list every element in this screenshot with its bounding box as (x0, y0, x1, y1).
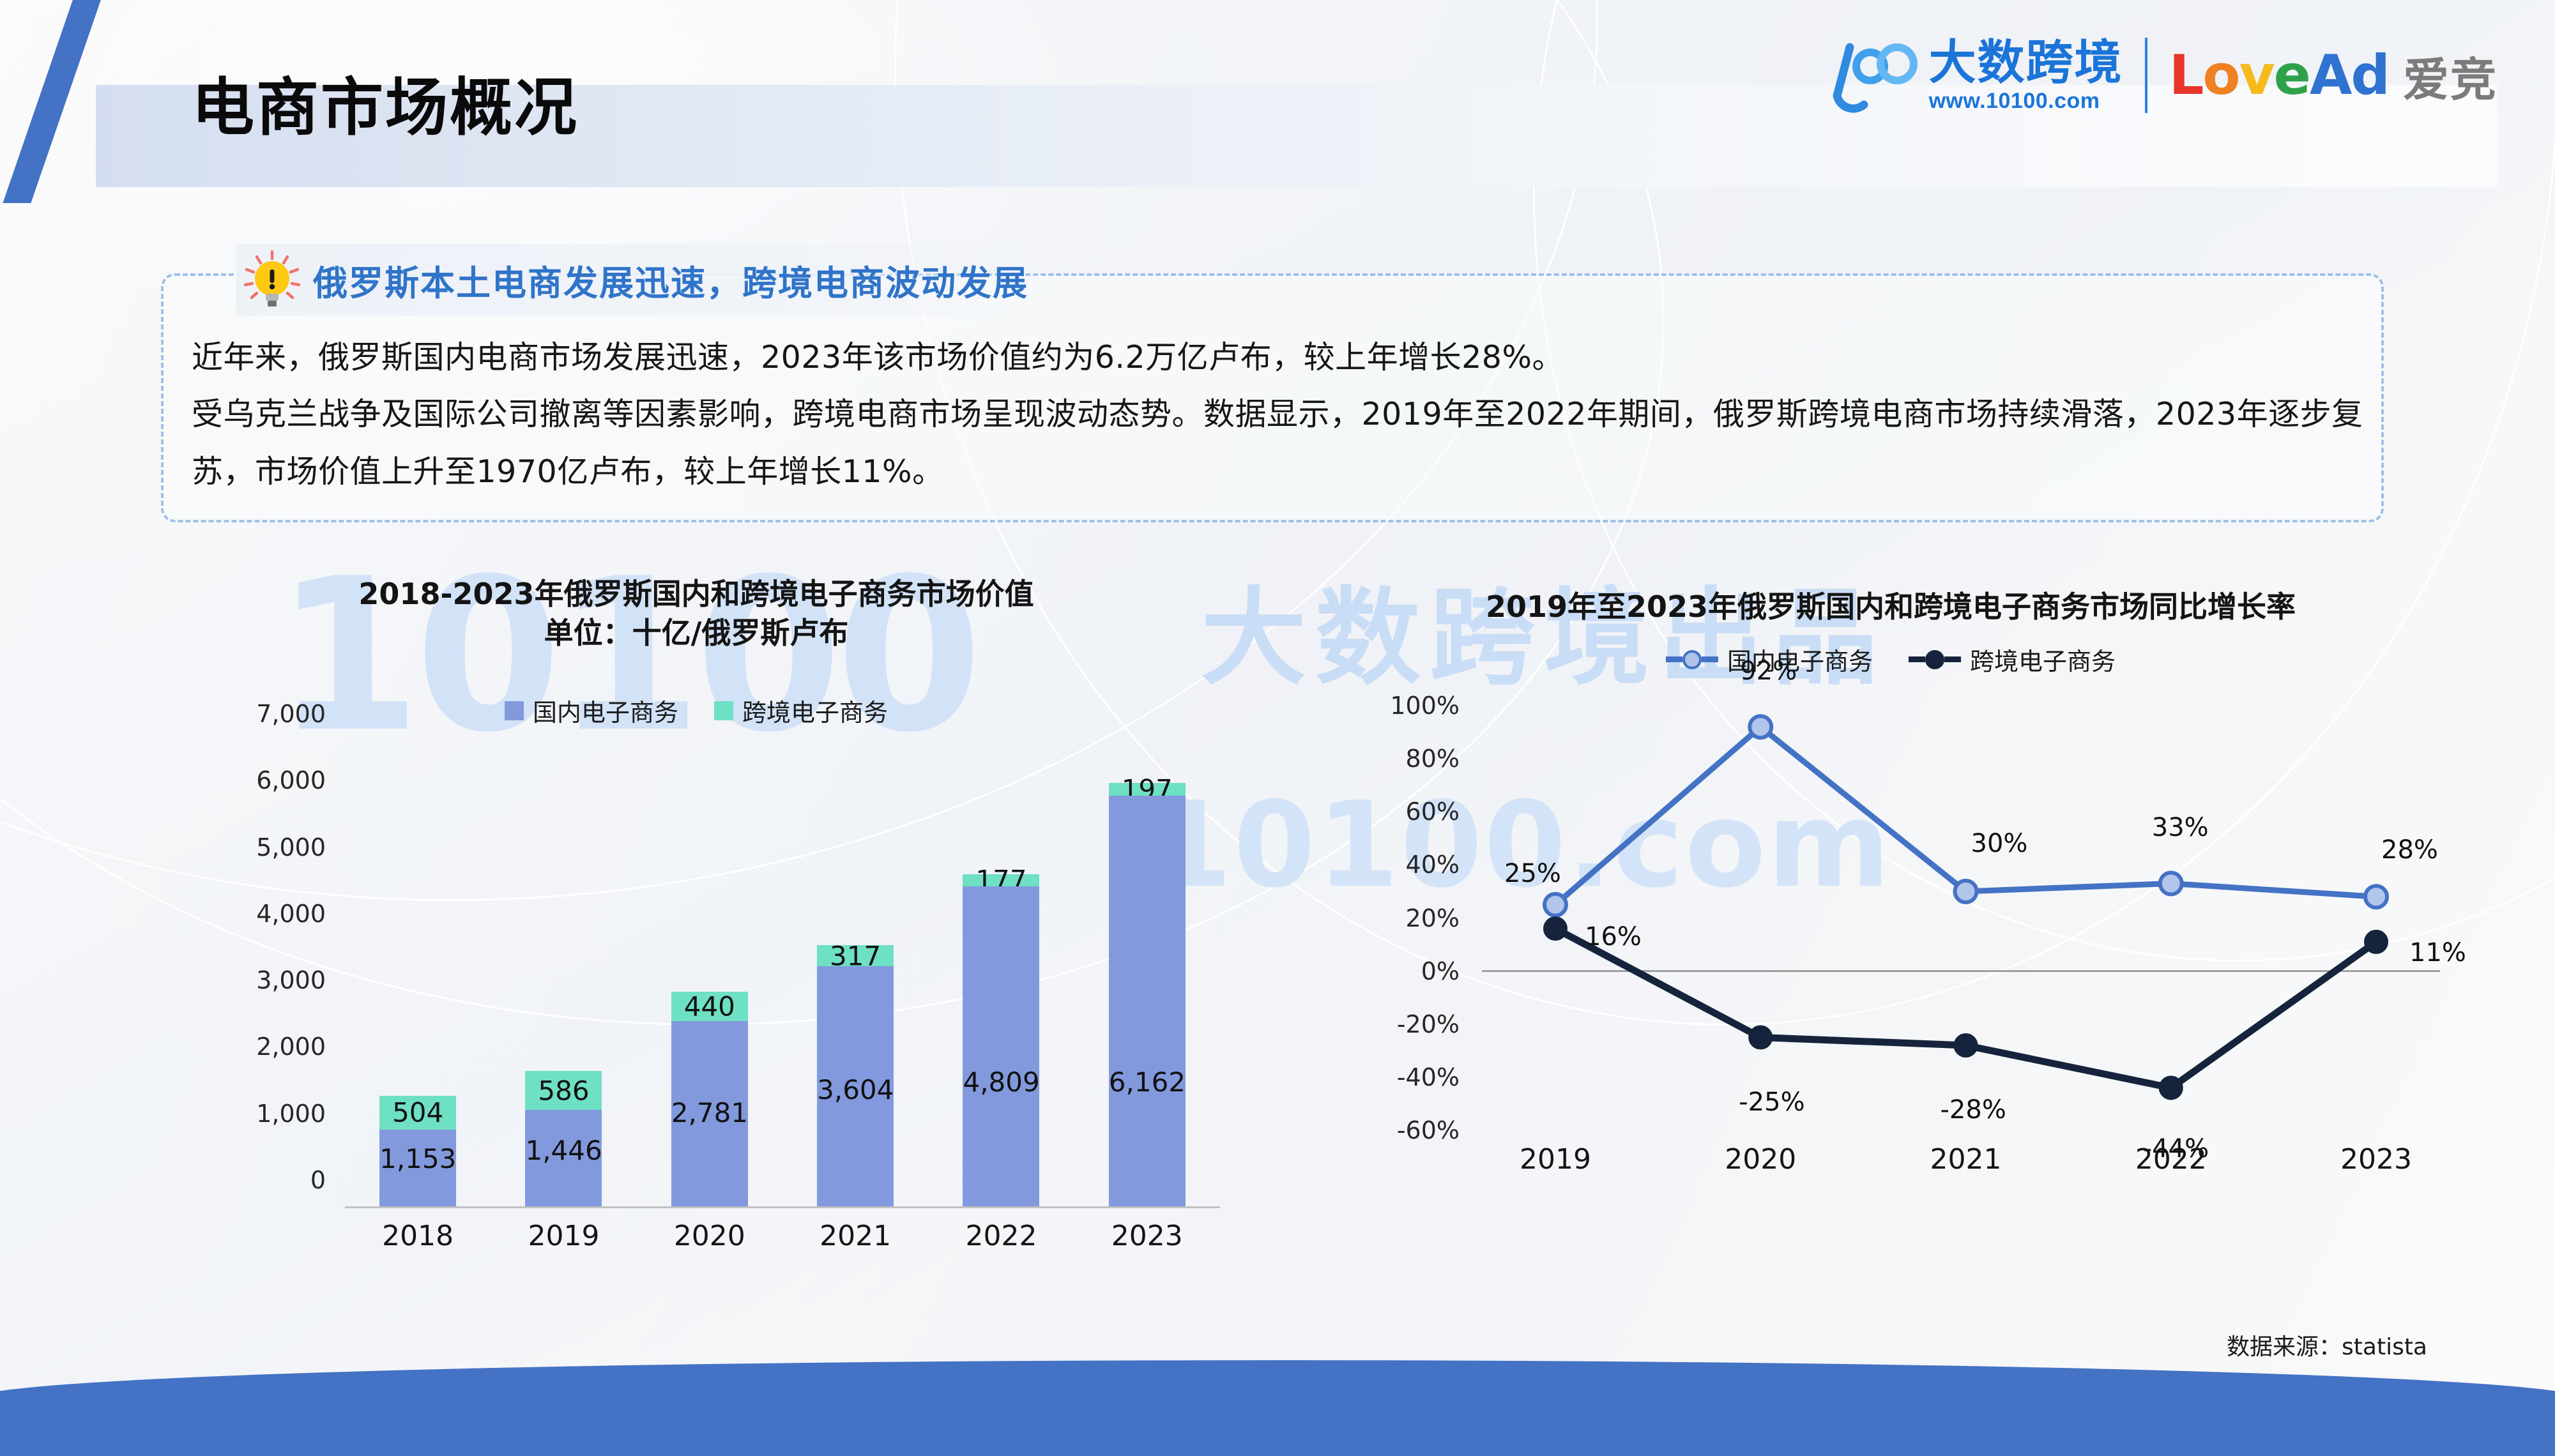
line-point-label: 28% (2381, 835, 2438, 865)
bar-column: 1774,809 (963, 740, 1039, 1206)
bar-y-axis: 01,0002,0003,0004,0005,0006,0007,000 (134, 742, 326, 1208)
source-note: 数据来源：statista (2227, 1328, 2427, 1361)
bar-segment-crossborder: 440 (671, 992, 748, 1021)
bar-value-label: 2,781 (671, 1097, 748, 1128)
line-chart-title: 2019年至2023年俄罗斯国内和跨境电子商务市场同比增长率 (1290, 588, 2491, 626)
legend-item-crossborder: 跨境电子商务 (1909, 642, 2116, 677)
bar-segment-domestic: 3,604 (817, 966, 894, 1206)
callout-paragraph: 近年来，俄罗斯国内电商市场发展迅速，2023年该市场价值约为6.2万亿卢布，较上… (192, 332, 2363, 383)
y-tick-label: 0% (1421, 957, 1460, 985)
legend-label: 国内电子商务 (533, 693, 678, 728)
bar-column: 1976,162 (1109, 740, 1186, 1206)
bar-column: 3173,604 (817, 740, 894, 1206)
line-chart-legend: 国内电子商务 跨境电子商务 (1290, 642, 2491, 677)
callout-body: 近年来，俄罗斯国内电商市场发展迅速，2023年该市场价值约为6.2万亿卢布，较上… (192, 332, 2363, 503)
bar-column: 5861,446 (525, 740, 602, 1206)
x-tick-label: 2023 (2340, 1143, 2412, 1176)
logo-brand-cn: 大数跨境 (1929, 40, 2123, 85)
line-y-axis: -60%-40%-20%0%20%40%60%80%100% (1290, 706, 1460, 1130)
y-tick-label: 3,000 (256, 966, 326, 994)
y-tick-label: 0 (310, 1166, 326, 1194)
line-chart-title-text: 2019年至2023年俄罗斯国内和跨境电子商务市场同比增长率 (1290, 588, 2491, 626)
bar-value-label: 1,446 (525, 1135, 602, 1166)
bar-value-label: 6,162 (1109, 1066, 1186, 1098)
bar-segment-domestic: 1,153 (379, 1130, 456, 1206)
bar-plot-area: 01,0002,0003,0004,0005,0006,0007,000 504… (345, 742, 1220, 1208)
line-point-label: 92% (1740, 656, 1797, 686)
line-point-label: -25% (1739, 1088, 1804, 1117)
line-plot-area: -60%-40%-20%0%20%40%60%80%100% 25%92%30%… (1482, 706, 2440, 1130)
legend-marker (1666, 650, 1718, 669)
bar-chart-title-line2: 单位：十亿/俄罗斯卢布 (134, 614, 1258, 653)
x-tick-label: 2021 (1930, 1143, 2002, 1176)
logo-10100-icon (1826, 37, 1921, 114)
y-tick-label: -40% (1397, 1063, 1460, 1091)
legend-item-domestic: 国内电子商务 (505, 693, 678, 728)
x-tick-label: 2019 (525, 1220, 602, 1252)
page-title: 电商市场概况 (192, 77, 579, 139)
logo-group: 大数跨境 www.10100.com LoveAd 爱竞 (1826, 37, 2498, 114)
line-point-label: 25% (1504, 859, 1561, 888)
legend-item-crossborder: 跨境电子商务 (714, 693, 888, 728)
bar-segment-domestic: 2,781 (671, 1021, 748, 1206)
legend-swatch (505, 701, 524, 720)
legend-label: 跨境电子商务 (742, 693, 888, 728)
dashujingjing-logo: 大数跨境 www.10100.com (1826, 37, 2123, 114)
y-tick-label: 1,000 (256, 1100, 326, 1128)
legend-label: 跨境电子商务 (1970, 642, 2116, 677)
line-point-label: 11% (2409, 938, 2466, 967)
line-series-svg (1482, 706, 2440, 1130)
bar-value-label: 440 (671, 991, 748, 1022)
bar-segment-domestic: 4,809 (963, 886, 1039, 1207)
bar-x-axis: 201820192020202120222023 (345, 1220, 1220, 1252)
callout-header: 俄罗斯本土电商发展迅速，跨境电商波动发展 (236, 244, 1048, 315)
line-chart: 2019年至2023年俄罗斯国内和跨境电子商务市场同比增长率 国内电子商务 跨境… (1290, 575, 2491, 1328)
bar-segment-crossborder: 197 (1109, 783, 1186, 796)
lovead-logo: LoveAd (2169, 48, 2389, 103)
line-point-label: -28% (1941, 1095, 2006, 1125)
bar-column: 5041,153 (379, 740, 456, 1206)
bar-chart: 2018-2023年俄罗斯国内和跨境电子商务市场价值 单位：十亿/俄罗斯卢布 国… (134, 575, 1258, 1328)
x-tick-label: 2019 (1520, 1143, 1591, 1176)
footer-bar (0, 1360, 2555, 1456)
y-tick-label: -60% (1397, 1116, 1460, 1144)
bar-chart-title-line1: 2018-2023年俄罗斯国内和跨境电子商务市场价值 (134, 575, 1258, 614)
legend-swatch (714, 701, 733, 720)
y-tick-label: 60% (1406, 798, 1460, 826)
line-point-label: 30% (1971, 829, 2028, 858)
bar-segment-crossborder: 504 (379, 1096, 456, 1130)
line-point-label: 33% (2152, 813, 2209, 842)
bar-value-label: 504 (379, 1097, 456, 1128)
bar-column: 4402,781 (671, 740, 748, 1206)
y-tick-label: -20% (1397, 1010, 1460, 1038)
y-tick-label: 5,000 (256, 833, 326, 861)
logo-mark-svg (1826, 37, 1921, 114)
x-tick-label: 2020 (671, 1220, 748, 1252)
bar-segment-domestic: 6,162 (1109, 796, 1186, 1206)
y-tick-label: 4,000 (256, 900, 326, 928)
y-tick-label: 2,000 (256, 1033, 326, 1061)
lovead-brand-cn: 爱竞 (2403, 42, 2498, 109)
bar-chart-title: 2018-2023年俄罗斯国内和跨境电子商务市场价值 单位：十亿/俄罗斯卢布 (134, 575, 1258, 653)
bar-axis-line (345, 1206, 1220, 1208)
bar-value-label: 1,153 (379, 1143, 456, 1174)
bar-value-label: 3,604 (817, 1074, 894, 1105)
y-tick-label: 20% (1406, 904, 1460, 932)
y-tick-label: 100% (1390, 692, 1460, 720)
callout-paragraph: 受乌克兰战争及国际公司撤离等因素影响，跨境电商市场呈现波动态势。数据显示，201… (192, 389, 2363, 439)
y-tick-label: 7,000 (256, 700, 326, 728)
legend-marker (1909, 650, 1961, 669)
bar-segment-crossborder: 317 (817, 945, 894, 966)
x-tick-label: 2020 (1725, 1143, 1796, 1176)
callout-title: 俄罗斯本土电商发展迅速，跨境电商波动发展 (313, 255, 1028, 305)
x-tick-label: 2022 (2135, 1143, 2207, 1176)
y-tick-label: 6,000 (256, 766, 326, 794)
bar-value-label: 586 (525, 1075, 602, 1106)
y-tick-label: 40% (1406, 851, 1460, 879)
callout-paragraph: 苏，市场价值上升至1970亿卢布，较上年增长11%。 (192, 446, 2363, 497)
x-tick-label: 2023 (1109, 1220, 1186, 1252)
x-tick-label: 2018 (379, 1220, 456, 1252)
bar-segment-domestic: 1,446 (525, 1110, 602, 1206)
logo-url: www.10100.com (1929, 89, 2123, 114)
bar-segment-crossborder: 586 (525, 1071, 602, 1110)
bar-segment-crossborder: 177 (963, 874, 1039, 886)
x-tick-label: 2021 (817, 1220, 894, 1252)
line-point-label: 16% (1585, 922, 1642, 952)
x-tick-label: 2022 (963, 1220, 1039, 1252)
y-tick-label: 80% (1406, 745, 1460, 773)
lightbulb-exclamation-icon (243, 250, 301, 309)
logo-divider (2145, 38, 2147, 113)
bar-series-group: 5041,1535861,4464402,7813173,6041774,809… (345, 740, 1220, 1206)
bar-value-label: 4,809 (963, 1066, 1039, 1098)
